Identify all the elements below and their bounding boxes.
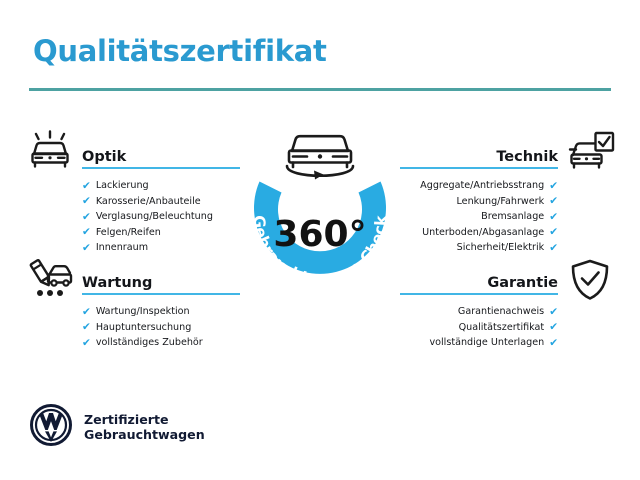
list-item-label: Garantienachweis — [458, 304, 544, 320]
list-item-label: vollständige Unterlagen — [429, 335, 544, 351]
check-icon: ✔ — [82, 338, 91, 349]
check-icon: ✔ — [549, 243, 558, 254]
badge-center-label: 360° — [273, 214, 366, 255]
section-divider-technik — [400, 167, 558, 169]
section-technik: Technik Aggregate/Antriebsstrang ✔ Lenku… — [400, 141, 558, 256]
section-optik: Optik ✔ Lackierung ✔ Karosserie/Anbautei… — [82, 141, 240, 256]
page-title: Qualitätszertifikat — [33, 34, 327, 68]
list-item: Unterboden/Abgasanlage ✔ — [400, 225, 558, 241]
list-item: ✔ Innenraum — [82, 240, 240, 256]
list-item-label: Karosserie/Anbauteile — [96, 194, 201, 210]
gebrauchtwagen-check-badge: Gebrauchtwagen-Check 360° — [232, 121, 408, 297]
section-garantie: Garantie Garantienachweis ✔ Qualitätszer… — [400, 267, 558, 351]
checklist-wartung: ✔ Wartung/Inspektion ✔ Hauptuntersuchung… — [82, 304, 240, 351]
list-item-label: Aggregate/Antriebsstrang — [420, 178, 544, 194]
section-title-optik: Optik — [82, 149, 126, 165]
list-item: Lenkung/Fahrwerk ✔ — [400, 194, 558, 210]
section-title-technik: Technik — [496, 149, 558, 165]
footer-line-2: Gebrauchtwagen — [84, 427, 205, 443]
footer-logo-block: Zertifizierte Gebrauchtwagen — [30, 404, 205, 450]
check-icon: ✔ — [549, 212, 558, 223]
section-title-garantie: Garantie — [487, 275, 558, 291]
check-icon: ✔ — [82, 322, 91, 333]
check-icon: ✔ — [82, 307, 91, 318]
list-item: Garantienachweis ✔ — [400, 304, 558, 320]
footer-line-1: Zertifizierte — [84, 412, 205, 428]
check-icon: ✔ — [82, 212, 91, 223]
section-header: Garantie — [400, 267, 558, 293]
list-item: vollständige Unterlagen ✔ — [400, 335, 558, 351]
car-shine-icon — [27, 130, 73, 174]
list-item: ✔ vollständiges Zubehör — [82, 335, 240, 351]
checklist-garantie: Garantienachweis ✔ Qualitätszertifikat ✔… — [400, 304, 558, 351]
list-item-label: Verglasung/Beleuchtung — [96, 209, 213, 225]
list-item-label: vollständiges Zubehör — [96, 335, 203, 351]
car-checkbox-icon — [568, 130, 616, 174]
shield-check-icon — [570, 259, 610, 305]
checklist-optik: ✔ Lackierung ✔ Karosserie/Anbauteile ✔ V… — [82, 178, 240, 256]
section-divider-optik — [82, 167, 240, 169]
check-icon: ✔ — [549, 322, 558, 333]
section-wartung: Wartung ✔ Wartung/Inspektion ✔ Hauptunte… — [82, 267, 240, 351]
section-header: Optik — [82, 141, 240, 167]
list-item: ✔ Felgen/Reifen — [82, 225, 240, 241]
check-icon: ✔ — [549, 338, 558, 349]
list-item-label: Felgen/Reifen — [96, 225, 161, 241]
list-item: Qualitätszertifikat ✔ — [400, 320, 558, 336]
section-divider-garantie — [400, 293, 558, 295]
check-icon: ✔ — [549, 227, 558, 238]
list-item: ✔ Wartung/Inspektion — [82, 304, 240, 320]
section-title-wartung: Wartung — [82, 275, 152, 291]
list-item-label: Lackierung — [96, 178, 149, 194]
list-item-label: Bremsanlage — [481, 209, 544, 225]
section-header: Technik — [400, 141, 558, 167]
list-item-label: Lenkung/Fahrwerk — [456, 194, 544, 210]
car-rotate-icon — [287, 136, 353, 179]
certificate-page: Qualitätszertifikat — [0, 0, 640, 480]
list-item-label: Unterboden/Abgasanlage — [422, 225, 544, 241]
list-item: ✔ Hauptuntersuchung — [82, 320, 240, 336]
check-icon: ✔ — [549, 307, 558, 318]
list-item-label: Qualitätszertifikat — [459, 320, 545, 336]
list-item: Aggregate/Antriebsstrang ✔ — [400, 178, 558, 194]
list-item: Bremsanlage ✔ — [400, 209, 558, 225]
footer-text: Zertifizierte Gebrauchtwagen — [84, 412, 205, 443]
list-item: ✔ Karosserie/Anbauteile — [82, 194, 240, 210]
check-icon: ✔ — [549, 181, 558, 192]
check-icon: ✔ — [82, 243, 91, 254]
title-divider — [29, 88, 611, 91]
volkswagen-logo — [30, 404, 72, 450]
list-item: Sicherheit/Elektrik ✔ — [400, 240, 558, 256]
check-icon: ✔ — [82, 227, 91, 238]
checklist-technik: Aggregate/Antriebsstrang ✔ Lenkung/Fahrw… — [400, 178, 558, 256]
list-item-label: Sicherheit/Elektrik — [457, 240, 545, 256]
check-icon: ✔ — [82, 181, 91, 192]
list-item-label: Wartung/Inspektion — [96, 304, 190, 320]
check-icon: ✔ — [549, 196, 558, 207]
list-item-label: Innenraum — [96, 240, 148, 256]
pen-car-service-icon — [27, 258, 73, 302]
list-item-label: Hauptuntersuchung — [96, 320, 191, 336]
list-item: ✔ Verglasung/Beleuchtung — [82, 209, 240, 225]
section-divider-wartung — [82, 293, 240, 295]
check-icon: ✔ — [82, 196, 91, 207]
section-header: Wartung — [82, 267, 240, 293]
list-item: ✔ Lackierung — [82, 178, 240, 194]
